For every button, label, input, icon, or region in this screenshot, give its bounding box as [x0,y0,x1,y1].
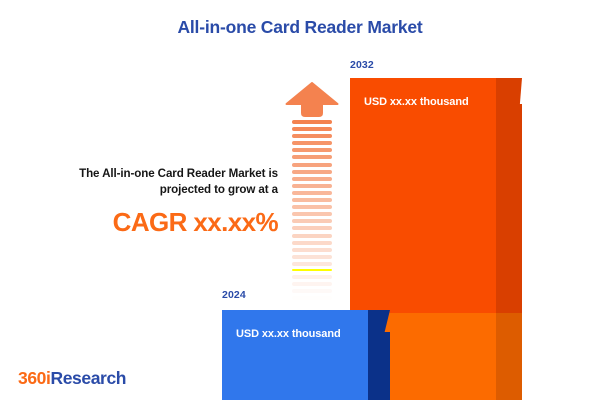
page-title: All-in-one Card Reader Market [0,17,600,38]
arrow-dash [292,198,332,202]
arrow-dash [292,191,332,195]
cagr-annotation: The All-in-one Card Reader Market is pro… [10,166,278,237]
bar-2032-year-label: 2032 [350,59,374,71]
bar-2032-base-side-overlay [496,313,522,400]
annotation-line-2: projected to grow at a [10,182,278,198]
arrow-dash [292,127,332,131]
arrow-dash [292,289,332,293]
up-arrow-icon [285,82,339,119]
growth-arrow [285,82,339,290]
arrow-dash [292,269,332,272]
bar-2024-side-face [368,332,390,400]
arrow-dash [292,205,332,209]
arrow-dash [292,120,332,124]
arrow-dash [292,177,332,181]
arrow-dash [292,148,332,152]
arrow-dash [292,212,332,216]
arrow-dash [292,234,332,238]
arrow-dash [292,241,332,245]
bar-2024-year-label: 2024 [222,289,246,301]
annotation-line-1: The All-in-one Card Reader Market is [10,166,278,182]
arrow-dash [292,219,332,223]
arrow-dash [292,296,332,300]
arrow-dash [292,141,332,145]
arrow-gradient-dashes [292,120,332,290]
arrow-dash [292,262,332,266]
brand-logo[interactable]: 360iResearch [18,368,126,389]
arrow-dash [292,226,332,230]
arrow-dash [292,255,332,259]
cagr-value: CAGR xx.xx% [10,207,278,237]
arrow-dash [292,248,332,252]
arrow-dash [292,163,332,167]
infographic-canvas: All-in-one Card Reader Market The All-in… [0,0,600,400]
bar-2024-front-face [222,310,368,400]
bar-2032-value-label: USD xx.xx thousand [364,96,469,108]
arrow-dash [292,184,332,188]
arrow-dash [292,134,332,138]
bar-2024-value-label: USD xx.xx thousand [236,328,341,340]
arrow-dash [292,282,332,286]
arrow-dash [292,170,332,174]
arrow-dash [292,275,332,279]
logo-word: Research [50,368,126,388]
logo-mark: 360i [18,368,50,388]
arrow-dash [292,155,332,159]
